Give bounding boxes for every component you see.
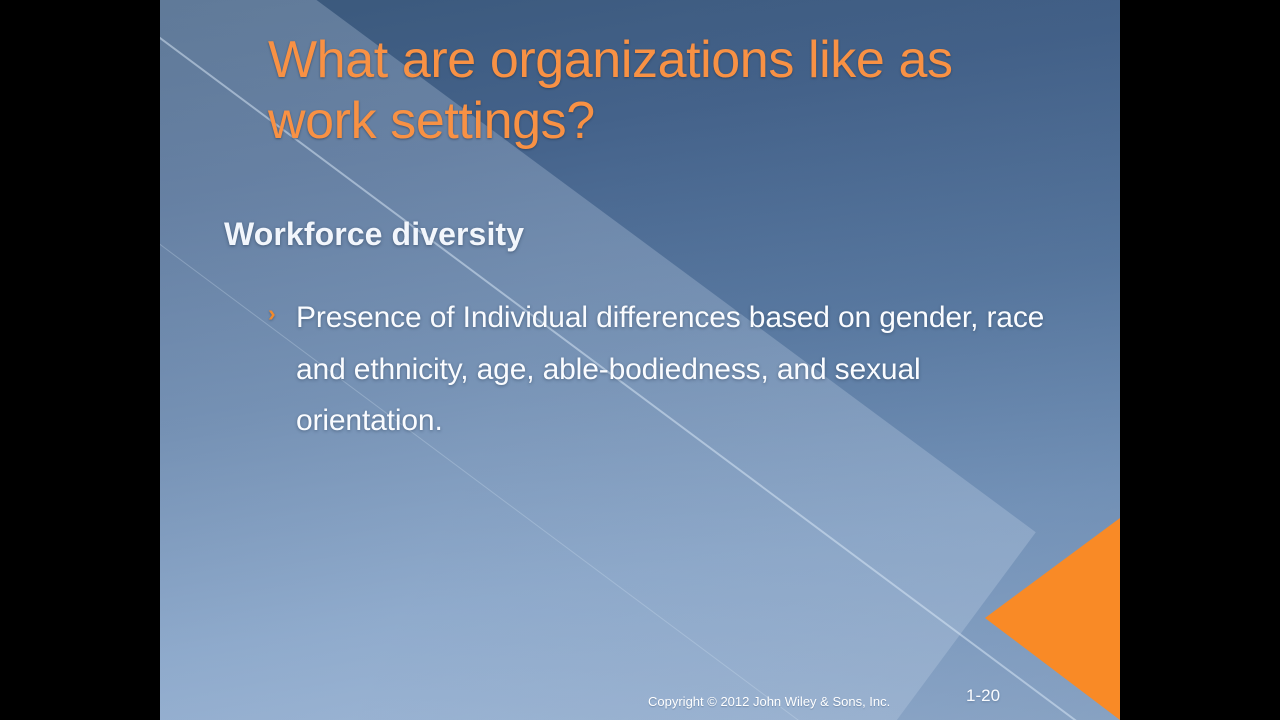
list-item: › Presence of Individual differences bas… — [268, 292, 1048, 447]
bullet-list: › Presence of Individual differences bas… — [268, 292, 1048, 447]
chevron-right-icon: › — [268, 292, 296, 325]
slide-number: 1-20 — [966, 686, 1000, 706]
slide-title: What are organizations like as work sett… — [268, 30, 1068, 153]
presentation-viewer: What are organizations like as work sett… — [0, 0, 1280, 720]
copyright-notice: Copyright © 2012 John Wiley & Sons, Inc. — [648, 694, 890, 709]
letterbox-bar-right — [1120, 0, 1280, 720]
letterbox-bar-left — [0, 0, 160, 720]
slide-canvas: What are organizations like as work sett… — [160, 0, 1120, 720]
list-item-text: Presence of Individual differences based… — [296, 292, 1048, 447]
slide-heading: Workforce diversity — [224, 216, 524, 253]
